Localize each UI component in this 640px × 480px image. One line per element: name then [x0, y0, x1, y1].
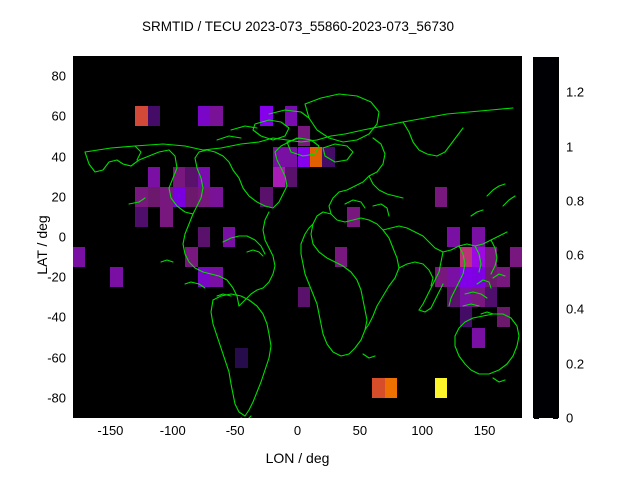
heatmap-cell — [335, 247, 347, 267]
heatmap-cell — [198, 227, 210, 247]
y-axis-tick-mark — [73, 358, 77, 359]
heatmap-cell — [435, 378, 447, 398]
heatmap-cell — [173, 187, 185, 207]
heatmap-cell — [472, 247, 484, 267]
colorbar-tick-mark — [534, 255, 539, 256]
y-axis-tick-mark — [73, 277, 77, 278]
heatmap-cell — [460, 247, 472, 267]
heatmap-cell — [385, 378, 397, 398]
heatmap-cell — [160, 207, 172, 227]
y-axis-label: LAT / deg — [34, 165, 50, 325]
heatmap-cell — [497, 307, 509, 327]
heatmap-cell — [485, 247, 497, 267]
x-axis-tick-label: 100 — [411, 423, 433, 438]
heatmap-cell — [322, 147, 334, 167]
heatmap-cell — [447, 227, 459, 247]
heatmap-cell — [510, 247, 522, 267]
colorbar-tick-mark — [534, 309, 539, 310]
heatmap-cell — [447, 287, 459, 307]
colorbar-tick-mark — [534, 201, 539, 202]
heatmap-cell — [185, 247, 197, 267]
heatmap-cell — [148, 106, 160, 126]
heatmap-cell — [460, 307, 472, 327]
heatmap-cell — [160, 187, 172, 207]
heatmap-cell — [460, 267, 472, 287]
x-axis-tick-label: -50 — [226, 423, 245, 438]
heatmap-cell — [110, 267, 122, 287]
y-axis-tick-label: 40 — [52, 149, 66, 164]
y-axis-tick-mark — [73, 76, 77, 77]
colorbar-tick-label: 0.4 — [566, 302, 584, 317]
y-axis-tick-label: 80 — [52, 69, 66, 84]
colorbar-tick-mark — [553, 201, 558, 202]
x-axis-tick-mark — [235, 414, 236, 418]
heatmap-cell — [210, 187, 222, 207]
x-axis-label: LON / deg — [73, 450, 522, 466]
heatmap-cell — [148, 187, 160, 207]
heatmap-cell — [198, 106, 210, 126]
x-axis-tick-mark — [110, 414, 111, 418]
x-axis-tick-mark — [422, 414, 423, 418]
x-axis-tick-label: -150 — [97, 423, 123, 438]
heatmap-cell — [198, 267, 210, 287]
heatmap-cell — [460, 287, 472, 307]
heatmap-cell — [472, 328, 484, 348]
y-axis-tick-mark — [73, 237, 77, 238]
heatmap-cell — [447, 267, 459, 287]
colorbar-tick-mark — [553, 364, 558, 365]
map-heatmap-panel[interactable] — [73, 56, 522, 418]
y-axis-tick-mark — [73, 398, 77, 399]
colorbar-tick-label: 1 — [566, 139, 573, 154]
heatmap-cell — [298, 147, 310, 167]
heatmap-cell — [235, 348, 247, 368]
heatmap-cell — [285, 167, 297, 187]
heatmap-cell — [185, 167, 197, 187]
heatmap-cell — [485, 267, 497, 287]
x-axis-tick-label: 0 — [294, 423, 301, 438]
y-axis-tick-label: -80 — [47, 390, 66, 405]
x-axis-tick-mark — [298, 414, 299, 418]
heatmap-cell — [210, 267, 222, 287]
heatmap-cell — [472, 267, 484, 287]
colorbar-tick-label: 1.2 — [566, 85, 584, 100]
heatmap-cell — [198, 167, 210, 187]
heatmap-cell — [435, 187, 447, 207]
heatmap-cell — [260, 187, 272, 207]
y-axis-tick-mark — [73, 197, 77, 198]
x-axis-tick-label: -100 — [160, 423, 186, 438]
colorbar-tick-mark — [534, 364, 539, 365]
heatmap-cell — [298, 287, 310, 307]
heatmap-cell — [148, 167, 160, 187]
heatmap-cell — [135, 207, 147, 227]
page-title: SRMTID / TECU 2023-073_55860-2023-073_56… — [0, 19, 596, 34]
heatmap-cell — [185, 187, 197, 207]
colorbar-tick-mark — [553, 92, 558, 93]
colorbar-tick-mark — [534, 147, 539, 148]
plot-figure: SRMTID / TECU 2023-073_55860-2023-073_56… — [0, 0, 640, 480]
colorbar-tick-mark — [553, 147, 558, 148]
x-axis-tick-mark — [485, 414, 486, 418]
heatmap-cell — [347, 207, 359, 227]
heatmap-cell — [273, 147, 285, 167]
y-axis-tick-mark — [73, 157, 77, 158]
heatmap-cell — [472, 287, 484, 307]
y-axis-tick-label: 0 — [59, 230, 66, 245]
heatmap-cell — [273, 167, 285, 187]
data-cells-layer — [73, 56, 522, 418]
x-axis-tick-label: 150 — [474, 423, 496, 438]
colorbar-tick-label: 0 — [566, 411, 573, 426]
heatmap-cell — [472, 227, 484, 247]
colorbar-tick-mark — [553, 418, 558, 419]
y-axis-tick-mark — [73, 317, 77, 318]
y-axis-tick-mark — [73, 116, 77, 117]
heatmap-cell — [485, 287, 497, 307]
heatmap-cell — [198, 187, 210, 207]
heatmap-cell — [210, 106, 222, 126]
heatmap-cell — [135, 106, 147, 126]
colorbar-tick-label: 0.8 — [566, 193, 584, 208]
colorbar-tick-label: 0.6 — [566, 248, 584, 263]
y-axis-tick-label: -40 — [47, 310, 66, 325]
y-axis-tick-label: 20 — [52, 189, 66, 204]
heatmap-cell — [223, 227, 235, 247]
heatmap-cell — [173, 167, 185, 187]
colorbar-tick-mark — [553, 255, 558, 256]
x-axis-tick-mark — [173, 414, 174, 418]
heatmap-cell — [135, 187, 147, 207]
heatmap-cell — [73, 247, 85, 267]
heatmap-cell — [285, 106, 297, 126]
heatmap-cell — [260, 106, 272, 126]
heatmap-cell — [285, 147, 297, 167]
x-axis-tick-label: 50 — [353, 423, 367, 438]
heatmap-cell — [372, 378, 384, 398]
colorbar-tick-mark — [553, 309, 558, 310]
colorbar-tick-label: 0.2 — [566, 356, 584, 371]
y-axis-tick-label: -20 — [47, 270, 66, 285]
heatmap-cell — [298, 126, 310, 146]
y-axis-tick-label: -60 — [47, 350, 66, 365]
heatmap-cell — [497, 267, 509, 287]
heatmap-cell — [310, 147, 322, 167]
colorbar-tick-mark — [534, 418, 539, 419]
colorbar-tick-mark — [534, 92, 539, 93]
y-axis-tick-label: 60 — [52, 109, 66, 124]
x-axis-tick-mark — [360, 414, 361, 418]
heatmap-cell — [435, 267, 447, 287]
